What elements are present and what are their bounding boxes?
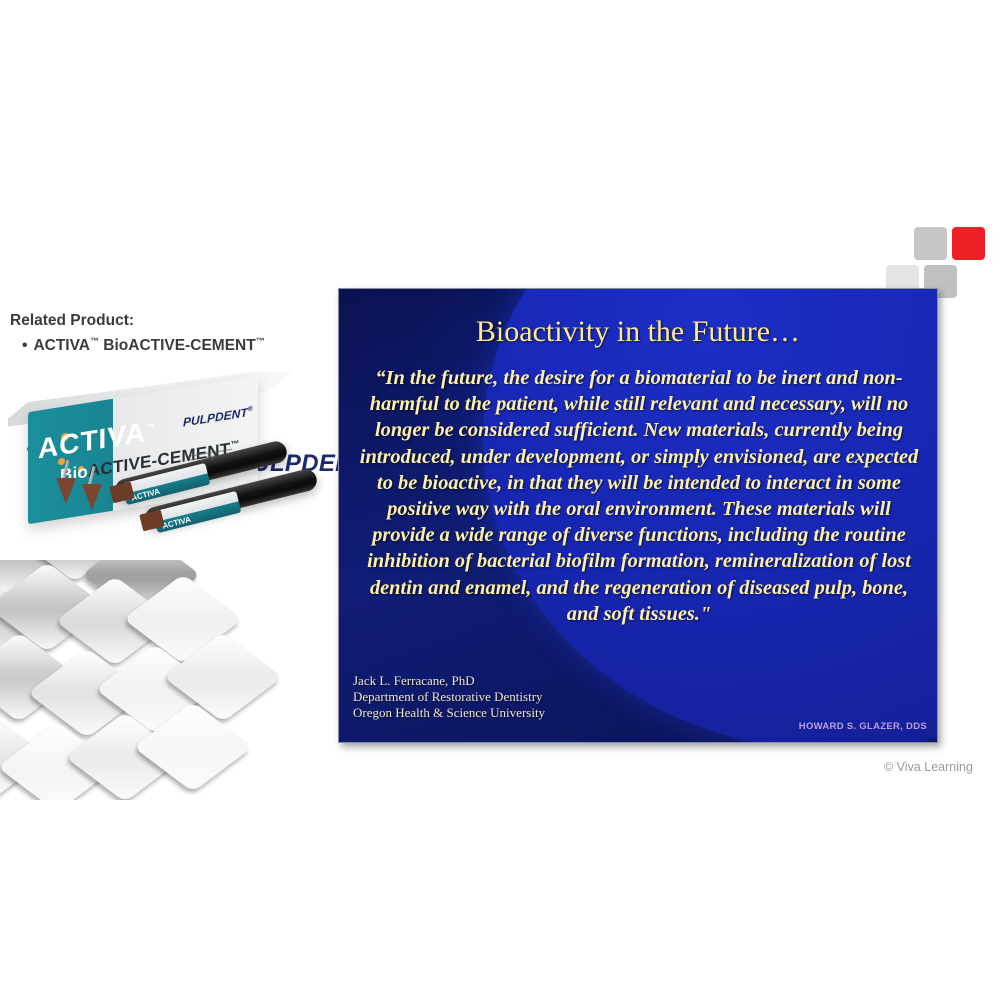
decorative-corner-squares	[886, 227, 986, 297]
corner-square-gray-top	[914, 227, 947, 260]
product-box-brand-reg: ®	[248, 405, 253, 413]
mixing-tip-cone-2	[82, 484, 102, 510]
attribution-author: Jack L. Ferracane, PhD	[353, 673, 545, 689]
slide-title: Bioactivity in the Future…	[339, 315, 937, 349]
page-header: VIVA ·clinical tips ™ VIVA PULPDENT®	[0, 210, 1000, 290]
activa-bioactive-cement-product-photo: ACTIVA™ BioACTIVE-CEMENT™ PULPDENT® ACTI…	[8, 372, 328, 572]
syringe-label-2-text: ACTIVA	[161, 515, 191, 531]
attribution-organization: Oregon Health & Science University	[353, 705, 545, 721]
attribution-department: Department of Restorative Dentistry	[353, 689, 545, 705]
decorative-tile-pattern	[0, 560, 330, 800]
related-product-tm-2: ™	[256, 336, 265, 346]
related-product-name: ACTIVA	[33, 337, 90, 354]
slide-viewer-stage: VIVA ·clinical tips ™ VIVA PULPDENT® Rel…	[0, 0, 1000, 1000]
mixing-tip-cone-1	[56, 478, 76, 504]
slide-attribution: Jack L. Ferracane, PhD Department of Res…	[353, 673, 545, 721]
bullet-icon: •	[22, 337, 27, 354]
related-product-item: •ACTIVA™ BioACTIVE-CEMENT™	[22, 336, 265, 355]
related-product-tm-1: ™	[90, 336, 99, 346]
related-product-name-cont: BioACTIVE-CEMENT	[99, 337, 256, 354]
viva-learning-copyright: © Viva Learning	[884, 760, 973, 774]
related-product-heading: Related Product:	[10, 312, 134, 330]
slide-presenter-credit: HOWARD S. GLAZER, DDS	[799, 721, 927, 732]
product-box-activa-tm: ™	[146, 421, 156, 433]
corner-square-red	[952, 227, 985, 260]
presentation-slide[interactable]: Bioactivity in the Future… “In the futur…	[338, 288, 938, 743]
slide-quote-text: “In the future, the desire for a biomate…	[359, 365, 919, 627]
slide-content: Bioactivity in the Future… “In the futur…	[339, 289, 937, 742]
